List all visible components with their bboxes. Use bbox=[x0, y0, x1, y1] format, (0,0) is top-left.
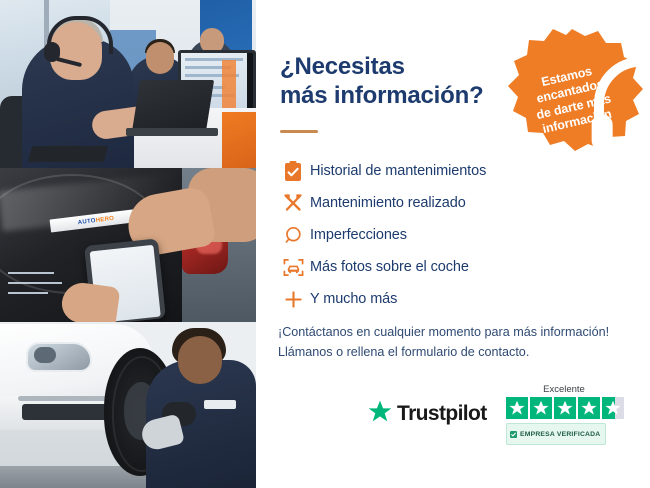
star-filled bbox=[506, 397, 528, 419]
title-divider bbox=[280, 130, 318, 133]
verified-business-badge: EMPRESA VERIFICADA bbox=[506, 423, 606, 445]
photo-car-inspection: AUTOHERO bbox=[0, 168, 256, 322]
plus-icon bbox=[276, 290, 310, 309]
feature-label: Más fotos sobre el coche bbox=[310, 259, 469, 275]
feature-item-imperfecciones: Imperfecciones bbox=[276, 219, 576, 251]
feature-label: Imperfecciones bbox=[310, 227, 407, 243]
content-panel: ¿Necesitas más información? Estamos enca… bbox=[256, 0, 650, 488]
trustpilot-wordmark: Trustpilot bbox=[397, 402, 487, 426]
photo-column: AUTOHERO bbox=[0, 0, 256, 488]
contact-paragraph: ¡Contáctanos en cualquier momento para m… bbox=[278, 322, 638, 363]
trustpilot-logo[interactable]: Trustpilot bbox=[368, 400, 487, 428]
star-filled bbox=[578, 397, 600, 419]
trustpilot-rating: Excelente bbox=[506, 384, 638, 445]
feature-item-mas-fotos: Más fotos sobre el coche bbox=[276, 251, 576, 283]
page-title: ¿Necesitas más información? bbox=[280, 52, 530, 111]
feature-item-historial: Historial de mantenimientos bbox=[276, 155, 576, 187]
photo-call-center bbox=[0, 0, 256, 168]
badge-estamos-encantados: Estamos encantados de darte más informac… bbox=[499, 27, 645, 153]
trustpilot-widget[interactable]: Trustpilot Excelente bbox=[368, 384, 638, 450]
ruler-brand-a: AUTO bbox=[77, 218, 96, 226]
star-partial bbox=[602, 397, 624, 419]
trustpilot-star-icon bbox=[368, 400, 392, 428]
paragraph-line-2: Llámanos o rellena el formulario de cont… bbox=[278, 342, 638, 362]
verified-label: EMPRESA VERIFICADA bbox=[520, 431, 600, 438]
feature-label: Historial de mantenimientos bbox=[310, 163, 486, 179]
star-rating bbox=[506, 397, 638, 419]
feature-list: Historial de mantenimientos Mantenimient… bbox=[276, 155, 576, 315]
feature-label: Y mucho más bbox=[310, 291, 397, 307]
paragraph-line-1: ¡Contáctanos en cualquier momento para m… bbox=[278, 322, 638, 342]
clipboard-check-icon bbox=[276, 161, 310, 182]
heading-line-2: más información? bbox=[280, 81, 530, 110]
photo-mechanic-wheel bbox=[0, 322, 256, 488]
promo-banner: AUTOHERO bbox=[0, 0, 650, 488]
verified-check-icon bbox=[510, 425, 517, 443]
star-filled bbox=[530, 397, 552, 419]
ruler-brand-b: HERO bbox=[95, 215, 114, 223]
rating-label: Excelente bbox=[506, 384, 622, 395]
feature-item-mantenimiento: Mantenimiento realizado bbox=[276, 187, 576, 219]
heading-line-1: ¿Necesitas bbox=[280, 52, 530, 81]
feature-label: Mantenimiento realizado bbox=[310, 195, 466, 211]
car-frame-icon bbox=[276, 258, 310, 277]
magnifier-icon bbox=[276, 226, 310, 245]
star-filled bbox=[554, 397, 576, 419]
feature-item-mucho-mas: Y mucho más bbox=[276, 283, 576, 315]
crossed-tools-icon bbox=[276, 193, 310, 213]
